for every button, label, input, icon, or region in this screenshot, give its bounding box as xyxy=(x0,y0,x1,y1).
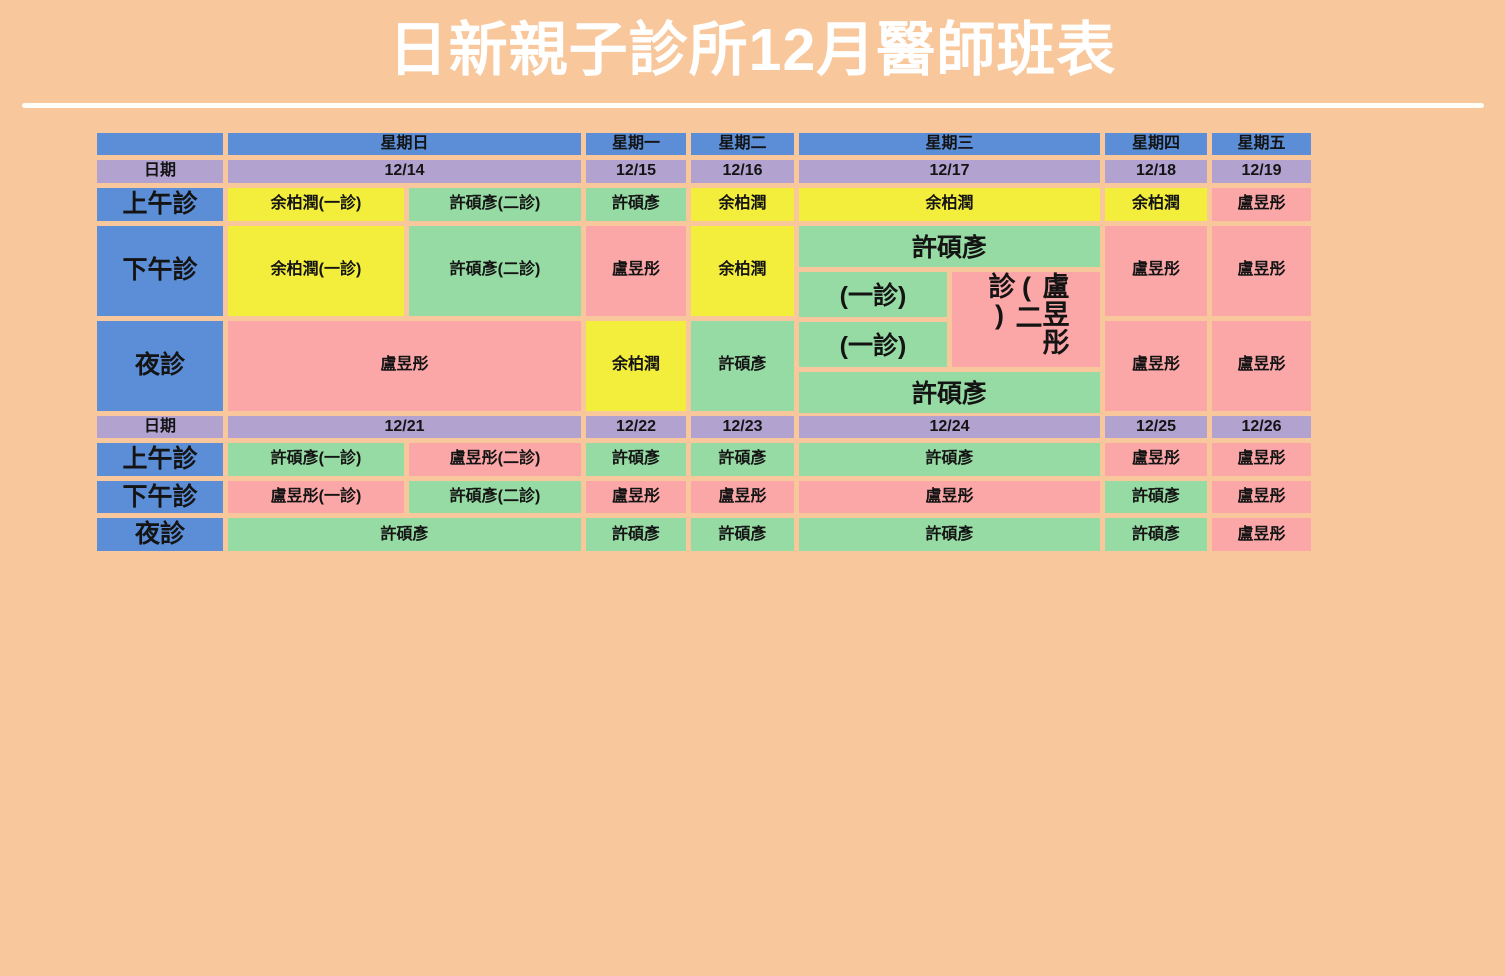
slot-label-afternoon-week1: 下午診 xyxy=(97,226,223,316)
schedule-page: 日新親子診所12月醫師班表 星期日 星期一 星期二 星期三 星期四 星期五 日期… xyxy=(0,0,1505,976)
date-week1-wednesday: 12/17 xyxy=(799,160,1100,182)
weekday-header-thursday: 星期四 xyxy=(1105,133,1207,155)
slot-label-morning-week1: 上午診 xyxy=(97,188,223,221)
date-week2-monday: 12/22 xyxy=(586,416,686,438)
date-week2-tuesday: 12/23 xyxy=(691,416,794,438)
shift-w1-ev-tue: 許碩彥 xyxy=(691,321,794,411)
date-week2-friday: 12/26 xyxy=(1212,416,1311,438)
shift-w1-pm-mon: 盧昱彤 xyxy=(586,226,686,316)
date-week1-thursday: 12/18 xyxy=(1105,160,1207,182)
shift-w1-ev-sun: 盧昱彤 xyxy=(228,321,581,411)
shift-w2-pm-sun-1: 盧昱彤(一診) xyxy=(228,481,404,514)
date-week2-thursday: 12/25 xyxy=(1105,416,1207,438)
shift-w2-am-sun-2: 盧昱彤(二診) xyxy=(409,443,581,476)
shift-w1-pm-tue: 余柏潤 xyxy=(691,226,794,316)
date-week1-sunday: 12/14 xyxy=(228,160,581,182)
title-divider xyxy=(22,103,1484,108)
slot-label-evening-week2: 夜診 xyxy=(97,518,223,551)
shift-w1-am-wed: 余柏潤 xyxy=(799,188,1100,221)
shift-w1-wed-compound-right: 盧昱彤(二診) xyxy=(952,272,1100,367)
shift-w1-am-sun-2: 許碩彥(二診) xyxy=(409,188,581,221)
date-week1-monday: 12/15 xyxy=(586,160,686,182)
date-week2-wednesday: 12/24 xyxy=(799,416,1100,438)
shift-w2-ev-fri: 盧昱彤 xyxy=(1212,518,1311,551)
shift-w2-pm-fri: 盧昱彤 xyxy=(1212,481,1311,514)
slot-label-evening-week1: 夜診 xyxy=(97,321,223,411)
weekday-header-friday: 星期五 xyxy=(1212,133,1311,155)
shift-w1-am-thu: 余柏潤 xyxy=(1105,188,1207,221)
shift-w2-am-sun-1: 許碩彥(一診) xyxy=(228,443,404,476)
shift-w1-wed-compound-left-2: (一診) xyxy=(799,322,947,367)
shift-w2-ev-thu: 許碩彥 xyxy=(1105,518,1207,551)
shift-w1-ev-thu: 盧昱彤 xyxy=(1105,321,1207,411)
table-corner-cell xyxy=(97,133,223,155)
shift-w2-ev-mon: 許碩彥 xyxy=(586,518,686,551)
shift-w2-am-wed: 許碩彥 xyxy=(799,443,1100,476)
shift-w2-am-thu: 盧昱彤 xyxy=(1105,443,1207,476)
shift-w2-pm-thu: 許碩彥 xyxy=(1105,481,1207,514)
weekday-header-monday: 星期一 xyxy=(586,133,686,155)
date-week1-friday: 12/19 xyxy=(1212,160,1311,182)
shift-w1-pm-sun-2: 許碩彥(二診) xyxy=(409,226,581,316)
shift-w2-am-mon: 許碩彥 xyxy=(586,443,686,476)
shift-w1-pm-fri: 盧昱彤 xyxy=(1212,226,1311,316)
shift-w2-ev-wed: 許碩彥 xyxy=(799,518,1100,551)
shift-w1-wed-compound-left-1: (一診) xyxy=(799,272,947,317)
shift-w1-am-mon: 許碩彥 xyxy=(586,188,686,221)
shift-w1-wed-compound-right-label: 盧昱彤(二診) xyxy=(986,272,1067,367)
shift-w2-am-fri: 盧昱彤 xyxy=(1212,443,1311,476)
shift-w1-pm-thu: 盧昱彤 xyxy=(1105,226,1207,316)
page-title-bar: 日新親子診所12月醫師班表 xyxy=(0,0,1505,100)
shift-w1-am-sun-1: 余柏潤(一診) xyxy=(228,188,404,221)
shift-w2-pm-sun-2: 許碩彥(二診) xyxy=(409,481,581,514)
shift-w2-pm-tue: 盧昱彤 xyxy=(691,481,794,514)
date-row-label-week2: 日期 xyxy=(97,416,223,438)
shift-w1-pm-sun-1: 余柏潤(一診) xyxy=(228,226,404,316)
shift-w1-wed-compound-bottom: 許碩彥 xyxy=(799,372,1100,413)
shift-w2-ev-tue: 許碩彥 xyxy=(691,518,794,551)
weekday-header-sunday: 星期日 xyxy=(228,133,581,155)
shift-w2-pm-wed: 盧昱彤 xyxy=(799,481,1100,514)
slot-label-morning-week2: 上午診 xyxy=(97,443,223,476)
weekday-header-wednesday: 星期三 xyxy=(799,133,1100,155)
shift-w1-am-fri: 盧昱彤 xyxy=(1212,188,1311,221)
weekday-header-tuesday: 星期二 xyxy=(691,133,794,155)
shift-w1-wed-compound-top: 許碩彥 xyxy=(799,226,1100,267)
shift-w1-ev-mon: 余柏潤 xyxy=(586,321,686,411)
slot-label-afternoon-week2: 下午診 xyxy=(97,481,223,514)
shift-w2-ev-sun: 許碩彥 xyxy=(228,518,581,551)
page-title: 日新親子診所12月醫師班表 xyxy=(389,21,1117,80)
schedule-table: 星期日 星期一 星期二 星期三 星期四 星期五 日期 12/14 12/15 1… xyxy=(97,133,1472,551)
shift-w1-am-tue: 余柏潤 xyxy=(691,188,794,221)
date-week1-tuesday: 12/16 xyxy=(691,160,794,182)
shift-w1-wed-compound-block: 許碩彥 (一診) (一診) 盧昱彤(二診) 許碩彥 xyxy=(799,226,1100,411)
shift-w1-ev-fri: 盧昱彤 xyxy=(1212,321,1311,411)
date-week2-sunday: 12/21 xyxy=(228,416,581,438)
date-row-label-week1: 日期 xyxy=(97,160,223,182)
shift-w2-am-tue: 許碩彥 xyxy=(691,443,794,476)
shift-w2-pm-mon: 盧昱彤 xyxy=(586,481,686,514)
